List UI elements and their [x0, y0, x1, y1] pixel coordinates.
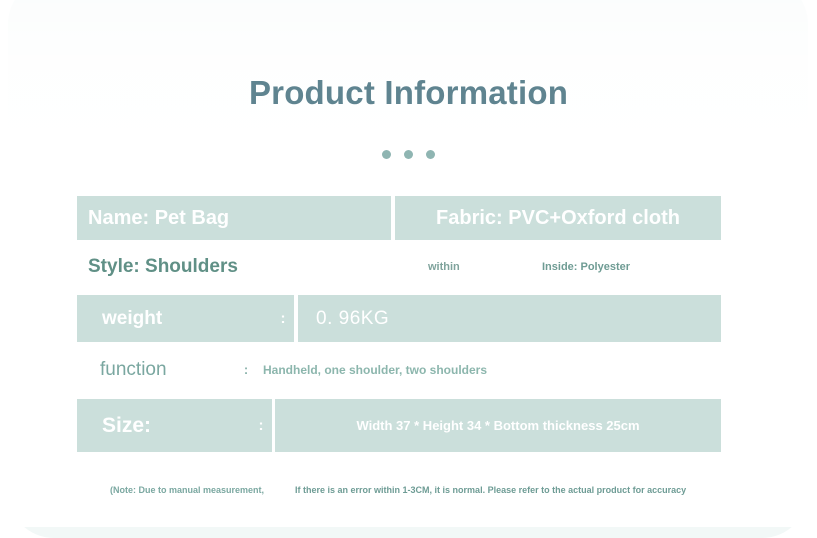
table-row-style: Style: Shoulders within Inside: Polyeste…	[77, 243, 721, 290]
spec-style-within-text: within	[428, 243, 460, 290]
spec-function-label: function	[77, 346, 235, 393]
spec-name-label: Name: Pet Bag	[77, 196, 391, 240]
table-row-name-fabric: Name: Pet Bag Fabric: PVC+Oxford cloth	[77, 196, 721, 240]
carousel-dot-3[interactable]	[426, 150, 435, 159]
carousel-dot-2[interactable]	[404, 150, 413, 159]
measurement-note-part-a: (Note: Due to manual measurement,	[110, 485, 264, 495]
spec-style-label: Style: Shoulders	[88, 243, 238, 290]
product-information-page: Product Information Name: Pet Bag Fabric…	[0, 0, 817, 527]
spec-inside-material: Inside: Polyester	[542, 243, 630, 290]
table-row-size: Size: : Width 37 * Height 34 * Bottom th…	[77, 399, 721, 452]
carousel-dot-1[interactable]	[382, 150, 391, 159]
spec-size-value: Width 37 * Height 34 * Bottom thickness …	[275, 399, 721, 452]
table-row-weight: weight : 0. 96KG	[77, 295, 721, 342]
page-title: Product Information	[0, 71, 817, 115]
spec-function-colon: :	[235, 346, 257, 393]
measurement-note: (Note: Due to manual measurement, If the…	[77, 480, 721, 500]
spec-weight-value: 0. 96KG	[298, 295, 721, 342]
specification-table: Name: Pet Bag Fabric: PVC+Oxford cloth S…	[77, 196, 721, 452]
measurement-note-part-b: If there is an error within 1-3CM, it is…	[295, 485, 686, 495]
table-row-function: function : Handheld, one shoulder, two s…	[77, 346, 721, 393]
spec-function-value: Handheld, one shoulder, two shoulders	[257, 346, 721, 393]
carousel-dots[interactable]	[0, 150, 817, 159]
spec-size-label: Size:	[77, 399, 250, 452]
spec-fabric-label: Fabric: PVC+Oxford cloth	[395, 196, 721, 240]
spec-weight-label: weight	[77, 295, 272, 342]
spec-size-colon: :	[250, 399, 272, 452]
spec-weight-colon: :	[272, 295, 294, 342]
